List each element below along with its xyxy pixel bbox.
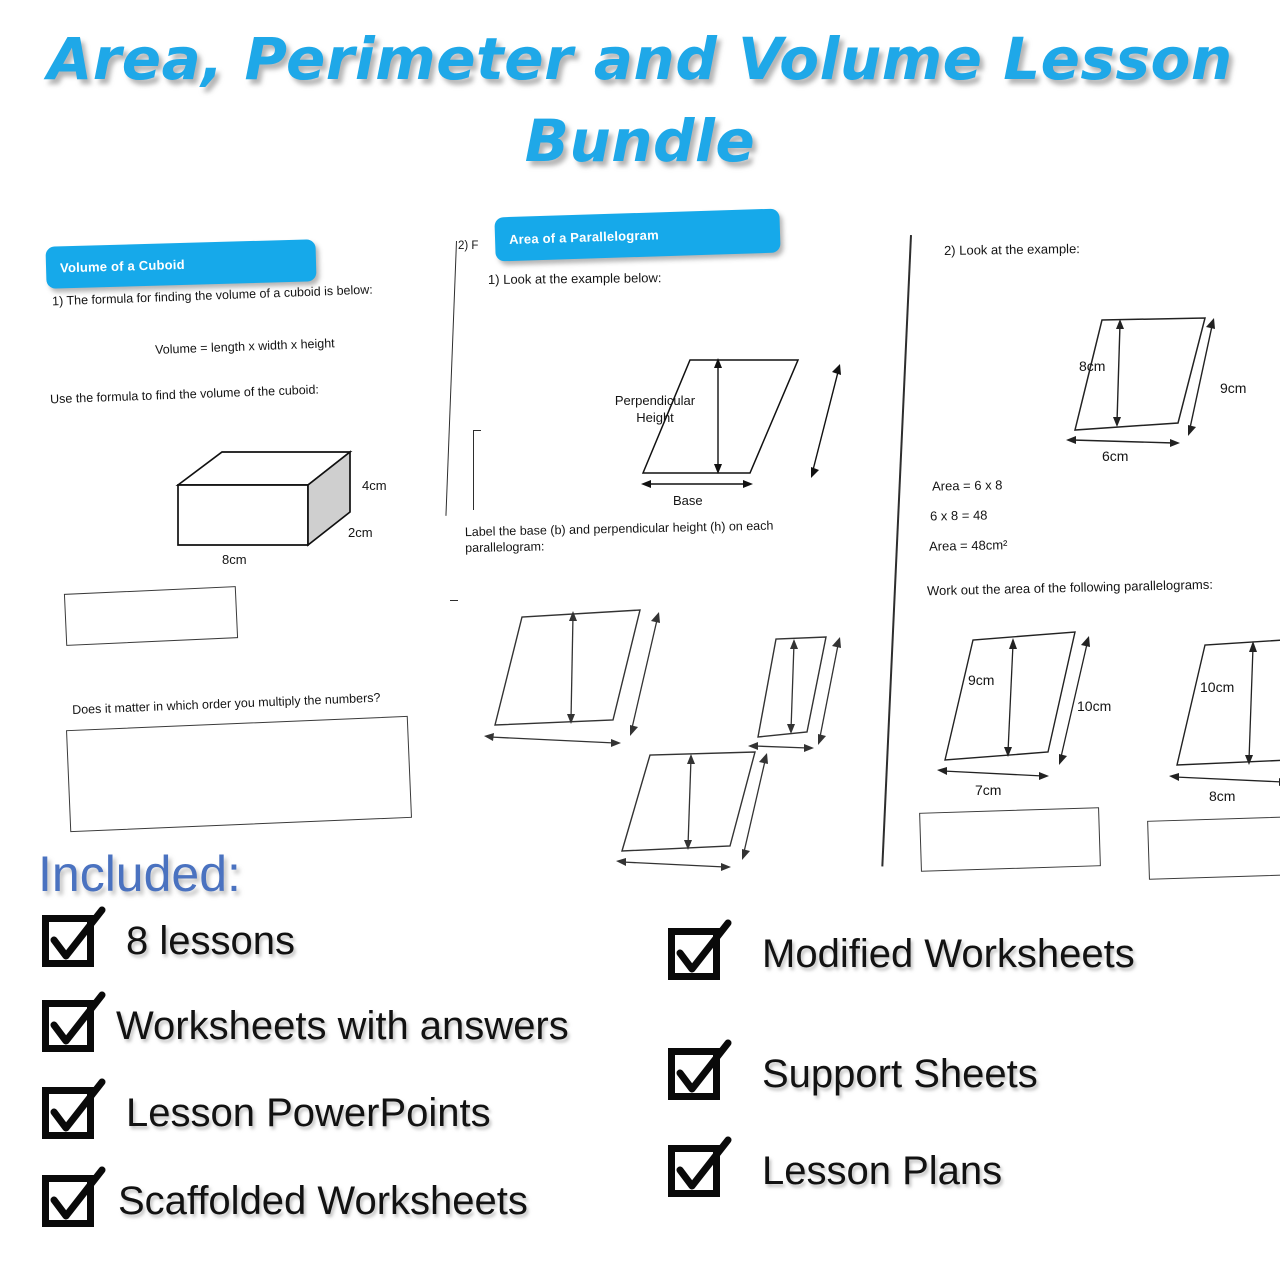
banner-label: Area of a Parallelogram <box>495 227 659 247</box>
page2-question-3: Work out the area of the following paral… <box>927 577 1213 598</box>
included-item-label: 8 lessons <box>126 919 295 964</box>
included-item-label: Worksheets with answers <box>116 1004 569 1049</box>
page2-working-line-1: Area = 6 x 8 <box>932 477 1003 493</box>
checkbox-checked-icon[interactable] <box>668 1048 720 1100</box>
included-item-label: Lesson Plans <box>762 1149 1002 1194</box>
included-item-label: Support Sheets <box>762 1052 1038 1097</box>
included-item-5: Support Sheets <box>668 1048 1038 1100</box>
checkbox-checked-icon[interactable] <box>668 1145 720 1197</box>
worksheet-volume-of-a-cuboid: Volume of a Cuboid 1) The formula for fi… <box>40 225 470 845</box>
cuboid-depth-label: 2cm <box>348 525 373 540</box>
included-item-6: Lesson Plans <box>668 1145 1002 1197</box>
cuboid-formula: Volume = length x width x height <box>155 331 475 357</box>
worksheet-banner-area-of-a-parallelogram: Area of a Parallelogram <box>494 209 780 262</box>
behind-sheet-edge-tick <box>473 430 481 431</box>
base-label: Base <box>673 493 703 508</box>
checkbox-checked-icon[interactable] <box>42 915 94 967</box>
cuboid-answer-box-1[interactable] <box>64 586 238 646</box>
parallelogram-task-diagrams <box>450 565 890 855</box>
page2-example-height: 8cm <box>1079 358 1105 374</box>
page2-example-diagram: 8cm 9cm 6cm <box>1030 280 1280 465</box>
included-item-label: Scaffolded Worksheets <box>118 1179 528 1224</box>
included-item-4: Modified Worksheets <box>668 928 1135 980</box>
page2-practice-diagram-1: 9cm 10cm 7cm <box>935 610 1155 800</box>
page2-practice-1-base: 7cm <box>975 782 1001 798</box>
checkbox-checked-icon[interactable] <box>668 928 720 980</box>
page2-practice-1-height: 9cm <box>968 672 994 688</box>
cuboid-answer-box-2[interactable] <box>66 716 412 832</box>
parallelogram-example-diagram: Perpendicular Height Base <box>585 310 875 505</box>
page2-practice-2-height: 10cm <box>1200 679 1234 695</box>
page2-question-2: 2) Look at the example: <box>944 241 1080 258</box>
worksheet-area-of-a-parallelogram-page2: 2) Look at the example: 8cm 9cm 6cm Area… <box>900 225 1280 865</box>
page2-example-slant: 9cm <box>1220 380 1246 396</box>
banner-label: Volume of a Cuboid <box>46 256 185 275</box>
included-item-label: Modified Worksheets <box>762 932 1135 977</box>
page2-practice-1-slant: 10cm <box>1077 698 1111 714</box>
cuboid-question-2: Does it matter in which order you multip… <box>72 687 472 717</box>
parallelogram-question-2: Label the base (b) and perpendicular hei… <box>465 516 856 556</box>
page2-working-line-2: 6 x 8 = 48 <box>930 507 988 523</box>
worksheet-banner-volume-of-a-cuboid: Volume of a Cuboid <box>45 239 316 289</box>
included-item-label: Lesson PowerPoints <box>126 1091 491 1136</box>
checkbox-checked-icon[interactable] <box>42 1087 94 1139</box>
checkbox-checked-icon[interactable] <box>42 1000 94 1052</box>
page2-answer-box-2[interactable] <box>1147 815 1280 880</box>
worksheet-area-of-a-parallelogram: 2) F Area of a Parallelogram 1) Look at … <box>440 205 890 860</box>
page-title: Area, Perimeter and Volume Lesson Bundle <box>0 18 1280 182</box>
parallelogram-question-1: 1) Look at the example below: <box>488 268 868 287</box>
page2-practice-diagram-2: 10cm 8cm <box>1165 615 1280 805</box>
cuboid-diagram: 4cm 2cm 8cm <box>170 440 400 580</box>
included-item-3: Scaffolded Worksheets <box>42 1175 528 1227</box>
included-item-0: 8 lessons <box>42 915 295 967</box>
behind-sheet-edge-2 <box>473 430 474 510</box>
page2-practice-2-base: 8cm <box>1209 788 1235 804</box>
checkbox-checked-icon[interactable] <box>42 1175 94 1227</box>
cuboid-instruction: Use the formula to find the volume of th… <box>50 378 450 407</box>
page2-example-base: 6cm <box>1102 448 1128 464</box>
page2-answer-box-1[interactable] <box>919 807 1101 872</box>
included-item-1: Worksheets with answers <box>42 1000 569 1052</box>
perpendicular-height-label: Perpendicular Height <box>590 392 720 426</box>
included-item-2: Lesson PowerPoints <box>42 1087 491 1139</box>
included-heading: Included: <box>38 845 241 903</box>
behind-sheet-fragment: 2) F <box>458 240 478 252</box>
cuboid-length-label: 8cm <box>222 552 247 567</box>
cuboid-height-label: 4cm <box>362 478 387 493</box>
page2-working-line-3: Area = 48cm² <box>929 537 1008 554</box>
behind-sheet-edge <box>445 241 457 516</box>
